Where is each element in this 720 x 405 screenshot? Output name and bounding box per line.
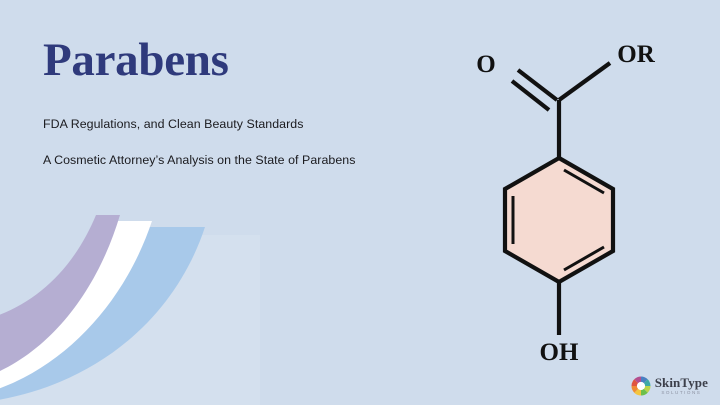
carbonyl-double-bond-b bbox=[512, 81, 549, 110]
decoration-band-white bbox=[0, 221, 152, 401]
logo-tagline: SOLUTIONS bbox=[655, 391, 708, 396]
decoration-band-blue bbox=[0, 227, 205, 405]
corner-decoration bbox=[0, 205, 260, 405]
carbonyl-oxygen-label: O bbox=[476, 51, 495, 78]
benzene-ring bbox=[505, 158, 613, 282]
logo-wordmark: SkinType SOLUTIONS bbox=[655, 376, 708, 395]
subtitle-line-2: A Cosmetic Attorney’s Analysis on the St… bbox=[43, 153, 473, 167]
carbonyl-double-bond-a bbox=[518, 70, 557, 100]
brand-logo: SkinType SOLUTIONS bbox=[631, 376, 708, 396]
bond-to-ester-oxygen bbox=[559, 63, 610, 100]
slide-canvas: Parabens FDA Regulations, and Clean Beau… bbox=[0, 0, 720, 405]
ester-group-label: OR bbox=[617, 41, 655, 68]
color-wheel-icon bbox=[631, 376, 651, 396]
decoration-band-pale bbox=[0, 235, 260, 405]
title-block: Parabens FDA Regulations, and Clean Beau… bbox=[43, 36, 473, 167]
logo-name: SkinType bbox=[655, 376, 708, 389]
paraben-molecule-diagram: O OR OH bbox=[470, 30, 670, 370]
subtitle-line-1: FDA Regulations, and Clean Beauty Standa… bbox=[43, 117, 473, 131]
page-title: Parabens bbox=[43, 36, 473, 85]
decoration-band-purple bbox=[0, 215, 120, 387]
hydroxyl-group-label: OH bbox=[540, 339, 579, 366]
